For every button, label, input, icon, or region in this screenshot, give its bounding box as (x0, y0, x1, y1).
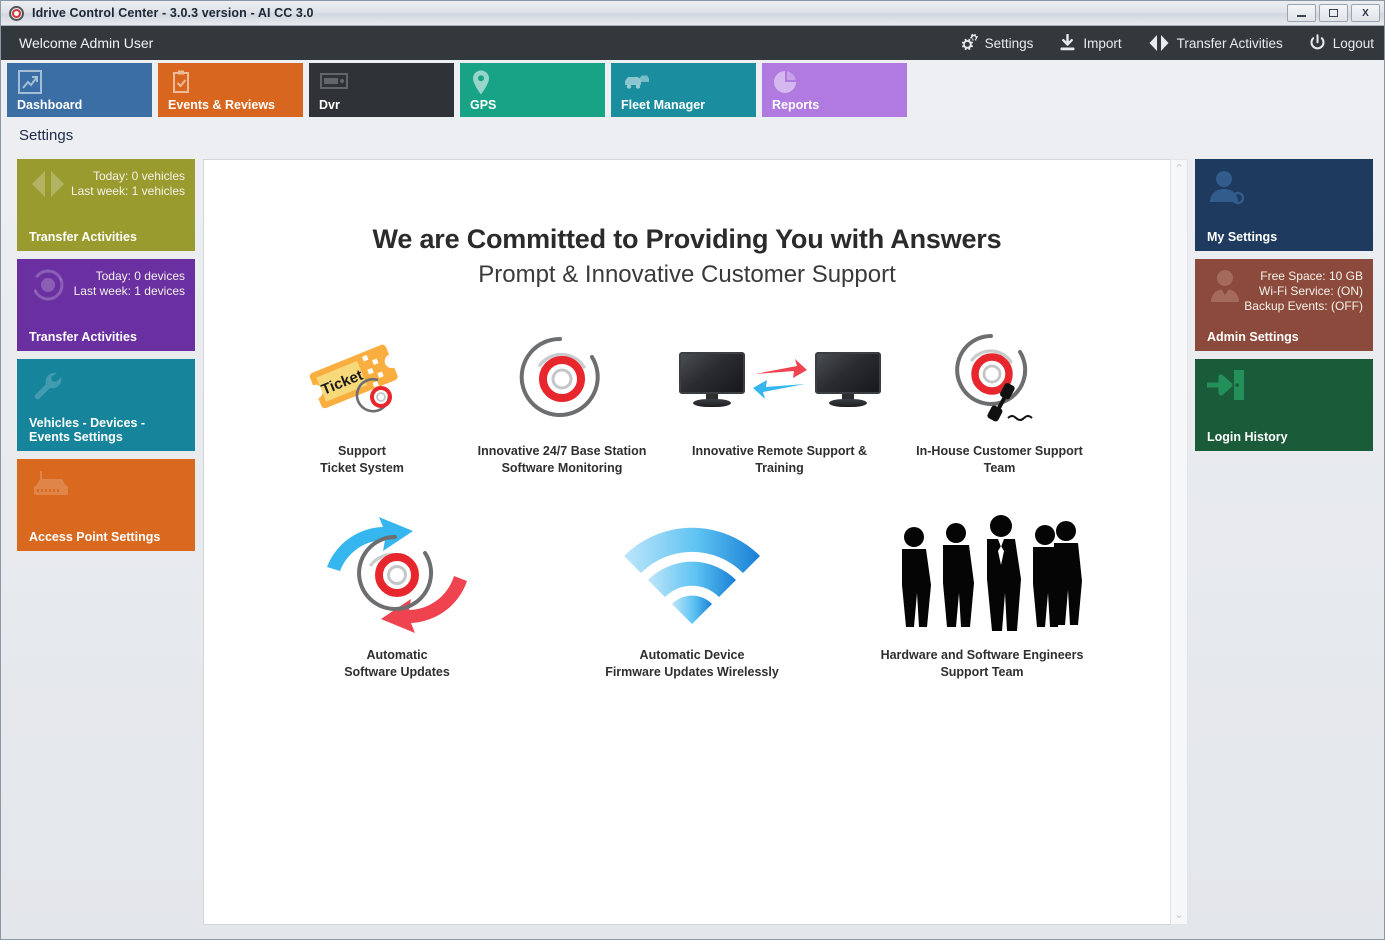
tile-stat-line: Last week: 1 devices (74, 284, 185, 299)
caption-line: Firmware Updates Wirelessly (542, 664, 842, 681)
login-door-icon (1207, 368, 1247, 407)
menu-actions: Settings Import Transf (956, 26, 1374, 60)
minimize-button[interactable] (1287, 4, 1316, 22)
sidebar-item-access-point-settings[interactable]: Access Point Settings (17, 459, 195, 551)
menu-item-import[interactable]: Import (1059, 34, 1121, 52)
target-phone-icon (892, 323, 1107, 435)
support-ticket-icon: Ticket (267, 323, 457, 435)
feature-caption: Innovative Remote Support & Training (667, 443, 892, 477)
tab-label-fleet: Fleet Manager (621, 98, 705, 112)
feature-automatic-software-updates: Automatic Software Updates (252, 511, 542, 681)
feature-caption: Innovative 24/7 Base Station Software Mo… (457, 443, 667, 477)
clipboard-check-icon (168, 69, 194, 100)
tab-label-dashboard: Dashboard (17, 98, 82, 112)
tab-label-dvr: Dvr (319, 98, 340, 112)
tab-dvr[interactable]: Dvr (309, 63, 454, 117)
tile-title: Admin Settings (1207, 330, 1365, 344)
menu-item-transfer-activities[interactable]: Transfer Activities (1148, 34, 1283, 52)
gears-icon (956, 33, 978, 53)
features-row-2: Automatic Software Updates (204, 511, 1170, 681)
caption-line: Software Updates (252, 664, 542, 681)
vehicles-icon (621, 69, 651, 98)
feature-caption: In-House Customer Support Team (892, 443, 1107, 477)
caption-line: Innovative 24/7 Base Station (457, 443, 667, 460)
caption-line: Ticket System (267, 460, 457, 477)
tile-stat-line: Free Space: 10 GB (1244, 269, 1363, 284)
tile-title: Vehicles - Devices - Events Settings (29, 416, 187, 444)
download-icon (1059, 34, 1076, 52)
tab-reports[interactable]: Reports (762, 63, 907, 117)
hero-section: We are Committed to Providing You with A… (204, 160, 1170, 289)
close-button[interactable]: X (1351, 4, 1380, 22)
tile-title: Transfer Activities (29, 230, 187, 244)
tab-dashboard[interactable]: Dashboard (7, 63, 152, 117)
caption-line: Hardware and Software Engineers (842, 647, 1122, 664)
tile-stat-line: Today: 0 vehicles (71, 169, 185, 184)
caption-line: Automatic Device (542, 647, 842, 664)
window-controls: X (1287, 4, 1380, 22)
tile-title: Transfer Activities (29, 330, 187, 344)
caption-line: Training (667, 460, 892, 477)
target-logo-icon (9, 6, 24, 21)
power-icon (1309, 34, 1326, 52)
right-sidebar: My Settings Free Space: 10 GB Wi-Fi Serv… (1195, 159, 1373, 459)
tile-title: My Settings (1207, 230, 1365, 244)
tile-stat-line: Today: 0 devices (74, 269, 185, 284)
tab-label-events: Events & Reviews (168, 98, 275, 112)
remote-monitors-icon (667, 323, 892, 435)
feature-remote-support-training: Innovative Remote Support & Training (667, 323, 892, 477)
feature-engineers-support-team: Hardware and Software Engineers Support … (842, 511, 1122, 681)
main-tab-strip: Dashboard Events & Reviews Dvr (1, 60, 1384, 122)
tile-stats: Free Space: 10 GB Wi-Fi Service: (ON) Ba… (1244, 269, 1363, 314)
tile-title: Login History (1207, 430, 1365, 444)
caption-line: Team (892, 460, 1107, 477)
chart-arrow-icon (17, 69, 43, 100)
menu-label-transfer: Transfer Activities (1177, 36, 1283, 51)
tile-stats: Today: 0 vehicles Last week: 1 vehicles (71, 169, 185, 199)
router-icon (29, 468, 73, 507)
sidebar-item-login-history[interactable]: Login History (1195, 359, 1373, 451)
menu-label-import: Import (1083, 36, 1121, 51)
scroll-up-icon[interactable]: ⌃ (1174, 164, 1183, 174)
left-sidebar: Today: 0 vehicles Last week: 1 vehicles … (17, 159, 195, 559)
page-subheadline: Prompt & Innovative Customer Support (204, 261, 1170, 289)
wrench-icon (29, 368, 69, 409)
monitor-left (679, 352, 745, 406)
transfer-arrows-icon (1148, 34, 1170, 52)
welcome-label: Welcome Admin User (19, 35, 153, 51)
tab-events-reviews[interactable]: Events & Reviews (158, 63, 303, 117)
tile-stats: Today: 0 devices Last week: 1 devices (74, 269, 185, 299)
caption-line: In-House Customer Support (892, 443, 1107, 460)
monitor-right (815, 352, 881, 406)
feature-caption: Automatic Software Updates (252, 647, 542, 681)
feature-in-house-support-team: In-House Customer Support Team (892, 323, 1107, 477)
feature-device-firmware-updates: Automatic Device Firmware Updates Wirele… (542, 511, 842, 681)
title-bar: Idrive Control Center - 3.0.3 version - … (1, 1, 1384, 26)
maximize-button[interactable] (1319, 4, 1348, 22)
menu-label-settings: Settings (985, 36, 1034, 51)
device-sync-icon (29, 268, 67, 307)
target-logo-icon (457, 323, 667, 435)
feature-caption: Hardware and Software Engineers Support … (842, 647, 1122, 681)
features-grid: Ticket (204, 323, 1170, 681)
menu-item-settings[interactable]: Settings (956, 33, 1034, 53)
scroll-down-icon[interactable]: ⌄ (1174, 910, 1183, 920)
tile-title: Access Point Settings (29, 530, 187, 544)
caption-line: Support Team (842, 664, 1122, 681)
features-row-1: Ticket (204, 323, 1170, 477)
caption-line: Support (267, 443, 457, 460)
tab-fleet-manager[interactable]: Fleet Manager (611, 63, 756, 117)
sidebar-item-transfer-activities-devices[interactable]: Today: 0 devices Last week: 1 devices Tr… (17, 259, 195, 351)
page-headline: We are Committed to Providing You with A… (204, 224, 1170, 255)
tab-label-reports: Reports (772, 98, 819, 112)
caption-line: Automatic (252, 647, 542, 664)
application-window: Idrive Control Center - 3.0.3 version - … (0, 0, 1385, 940)
transfer-arrows-icon (29, 168, 67, 205)
pie-chart-icon (772, 69, 798, 100)
feature-support-ticket-system: Ticket (267, 323, 457, 477)
main-panel-scrollbar[interactable]: ⌃ ⌄ (1170, 159, 1188, 925)
menu-item-logout[interactable]: Logout (1309, 34, 1374, 52)
wifi-icon (542, 511, 842, 639)
tile-stat-line: Last week: 1 vehicles (71, 184, 185, 199)
tile-stat-line: Backup Events: (OFF) (1244, 299, 1363, 314)
tab-label-gps: GPS (470, 98, 496, 112)
team-silhouettes-icon (842, 511, 1122, 639)
menu-label-logout: Logout (1333, 36, 1374, 51)
caption-line: Software Monitoring (457, 460, 667, 477)
menu-bar: Welcome Admin User Settings (1, 26, 1384, 60)
main-content-panel: We are Committed to Providing You with A… (203, 159, 1171, 925)
sidebar-item-transfer-activities-vehicles[interactable]: Today: 0 vehicles Last week: 1 vehicles … (17, 159, 195, 251)
feature-caption: Support Ticket System (267, 443, 457, 477)
user-gear-icon (1207, 168, 1247, 211)
sidebar-item-my-settings[interactable]: My Settings (1195, 159, 1373, 251)
sidebar-item-admin-settings[interactable]: Free Space: 10 GB Wi-Fi Service: (ON) Ba… (1195, 259, 1373, 351)
caption-line: Innovative Remote Support & (667, 443, 892, 460)
auto-update-icon (252, 511, 542, 639)
window-title: Idrive Control Center - 3.0.3 version - … (32, 6, 314, 20)
dvr-device-icon (319, 69, 349, 98)
tab-gps[interactable]: GPS (460, 63, 605, 117)
tile-stat-line: Wi-Fi Service: (ON) (1244, 284, 1363, 299)
admin-user-icon (1207, 268, 1243, 309)
feature-caption: Automatic Device Firmware Updates Wirele… (542, 647, 842, 681)
feature-base-station-monitoring: Innovative 24/7 Base Station Software Mo… (457, 323, 667, 477)
exchange-arrows-icon (751, 356, 809, 402)
sidebar-item-vehicles-devices-events-settings[interactable]: Vehicles - Devices - Events Settings (17, 359, 195, 451)
breadcrumb: Settings (19, 127, 73, 144)
